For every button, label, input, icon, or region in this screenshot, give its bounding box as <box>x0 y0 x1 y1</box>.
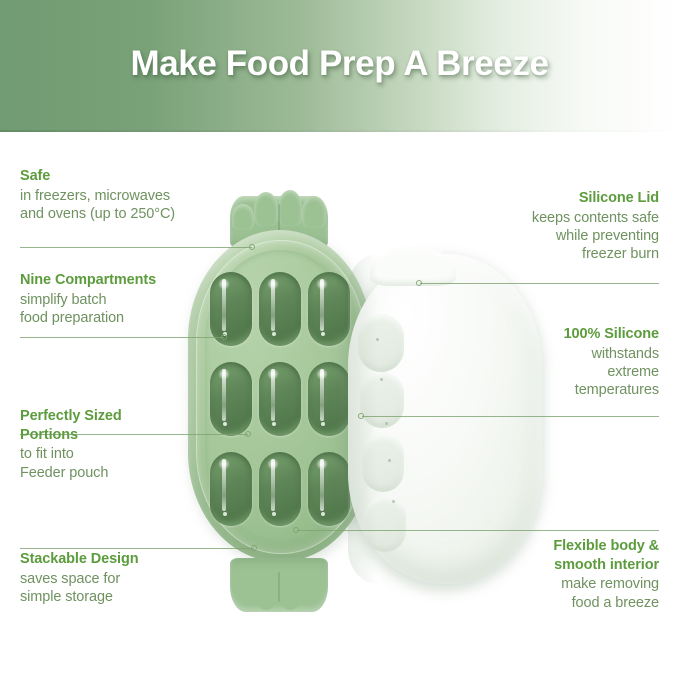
lid-bump <box>362 434 404 492</box>
callout-hundred-silicone-line-1: withstands <box>434 345 659 363</box>
lid-vent-dot <box>392 500 395 503</box>
compartment-gloss <box>320 369 324 421</box>
compartment-dot <box>272 332 276 336</box>
infographic-canvas: Make Food Prep A Breeze <box>0 0 679 679</box>
callout-flexible-line-1: make removing <box>434 575 659 593</box>
callout-hundred-silicone: 100% Silicone withstands extreme tempera… <box>434 326 659 399</box>
compartment-gloss <box>271 459 275 511</box>
leader-line-flexible <box>297 530 659 531</box>
leader-line-hundred-silicone <box>362 416 659 417</box>
foot-center-groove <box>278 572 280 602</box>
compartment <box>259 452 301 526</box>
silicone-lid <box>348 254 542 584</box>
callout-portions-heading-line-1: Perfectly Sized <box>20 408 235 426</box>
callout-portions-heading-line-2: Portions <box>20 427 235 445</box>
foot-toe-icon <box>232 570 254 598</box>
lid-vent-dot <box>388 459 391 462</box>
crown-spike-icon <box>302 196 326 228</box>
callout-portions: Perfectly Sized Portions to fit into Fee… <box>20 408 235 482</box>
lid-bump <box>364 496 406 552</box>
compartment-dot <box>321 332 325 336</box>
foot-toe-icon <box>278 576 302 610</box>
callout-stackable-heading: Stackable Design <box>20 551 235 569</box>
callout-nine-compartments-heading: Nine Compartments <box>20 272 235 290</box>
callout-silicone-lid-line-1: keeps contents safe <box>434 209 659 227</box>
compartment-dot <box>321 422 325 426</box>
callout-silicone-lid: Silicone Lid keeps contents safe while p… <box>434 190 659 263</box>
leader-endpoint-nine-compartments <box>221 334 227 340</box>
compartment <box>259 272 301 346</box>
callout-safe: Safe in freezers, microwaves and ovens (… <box>20 168 245 223</box>
compartment-gloss <box>271 369 275 421</box>
leader-endpoint-portions <box>245 431 251 437</box>
callout-nine-compartments-line-2: food preparation <box>20 309 235 327</box>
callout-stackable-line-2: simple storage <box>20 588 235 606</box>
leader-line-safe <box>20 247 252 248</box>
header-divider <box>0 130 679 132</box>
compartment-gloss <box>271 279 275 331</box>
callout-silicone-lid-line-3: freezer burn <box>434 245 659 263</box>
leader-line-stackable <box>20 548 254 549</box>
compartment-dot <box>321 512 325 516</box>
callout-flexible: Flexible body & smooth interior make rem… <box>434 538 659 612</box>
leader-endpoint-stackable <box>251 545 257 551</box>
callout-nine-compartments-line-1: simplify batch <box>20 291 235 309</box>
lid-vent-dot <box>385 422 388 425</box>
callout-safe-line-2: and ovens (up to 250°C) <box>20 205 245 223</box>
callout-silicone-lid-line-2: while preventing <box>434 227 659 245</box>
leader-endpoint-safe <box>249 244 255 250</box>
callout-stackable-line-1: saves space for <box>20 570 235 588</box>
callout-flexible-heading-line-1: Flexible body & <box>434 538 659 556</box>
compartment-gloss <box>320 279 324 331</box>
lid-bump <box>358 314 404 372</box>
compartment-gloss <box>320 459 324 511</box>
compartment-dot <box>272 512 276 516</box>
crown-spike-icon <box>254 192 278 226</box>
callout-safe-heading: Safe <box>20 168 245 186</box>
callout-silicone-lid-heading: Silicone Lid <box>434 190 659 208</box>
compartment <box>259 362 301 436</box>
page-title: Make Food Prep A Breeze <box>0 44 679 84</box>
callout-portions-line-2: Feeder pouch <box>20 464 235 482</box>
foot-toe-icon <box>302 570 326 598</box>
callout-flexible-line-2: food a breeze <box>434 594 659 612</box>
leader-line-nine-compartments <box>20 337 224 338</box>
callout-hundred-silicone-line-2: extreme <box>434 363 659 381</box>
callout-flexible-heading-line-2: smooth interior <box>434 557 659 575</box>
callout-nine-compartments: Nine Compartments simplify batch food pr… <box>20 272 235 327</box>
lid-vent-dot <box>376 338 379 341</box>
leader-endpoint-hundred-silicone <box>358 413 364 419</box>
lid-vent-dot <box>380 378 383 381</box>
compartment <box>308 272 350 346</box>
compartment <box>308 362 350 436</box>
compartment <box>308 452 350 526</box>
callout-safe-line-1: in freezers, microwaves <box>20 187 245 205</box>
callout-portions-line-1: to fit into <box>20 445 235 463</box>
compartment-dot <box>272 422 276 426</box>
callout-hundred-silicone-heading: 100% Silicone <box>434 326 659 344</box>
leader-line-silicone-lid <box>420 283 659 284</box>
compartment-dot <box>223 512 227 516</box>
callout-hundred-silicone-line-3: temperatures <box>434 381 659 399</box>
foot-toe-icon <box>254 576 278 610</box>
leader-endpoint-flexible <box>293 527 299 533</box>
crown-spike-icon <box>278 190 302 226</box>
leader-endpoint-silicone-lid <box>416 280 422 286</box>
callout-stackable: Stackable Design saves space for simple … <box>20 551 235 606</box>
